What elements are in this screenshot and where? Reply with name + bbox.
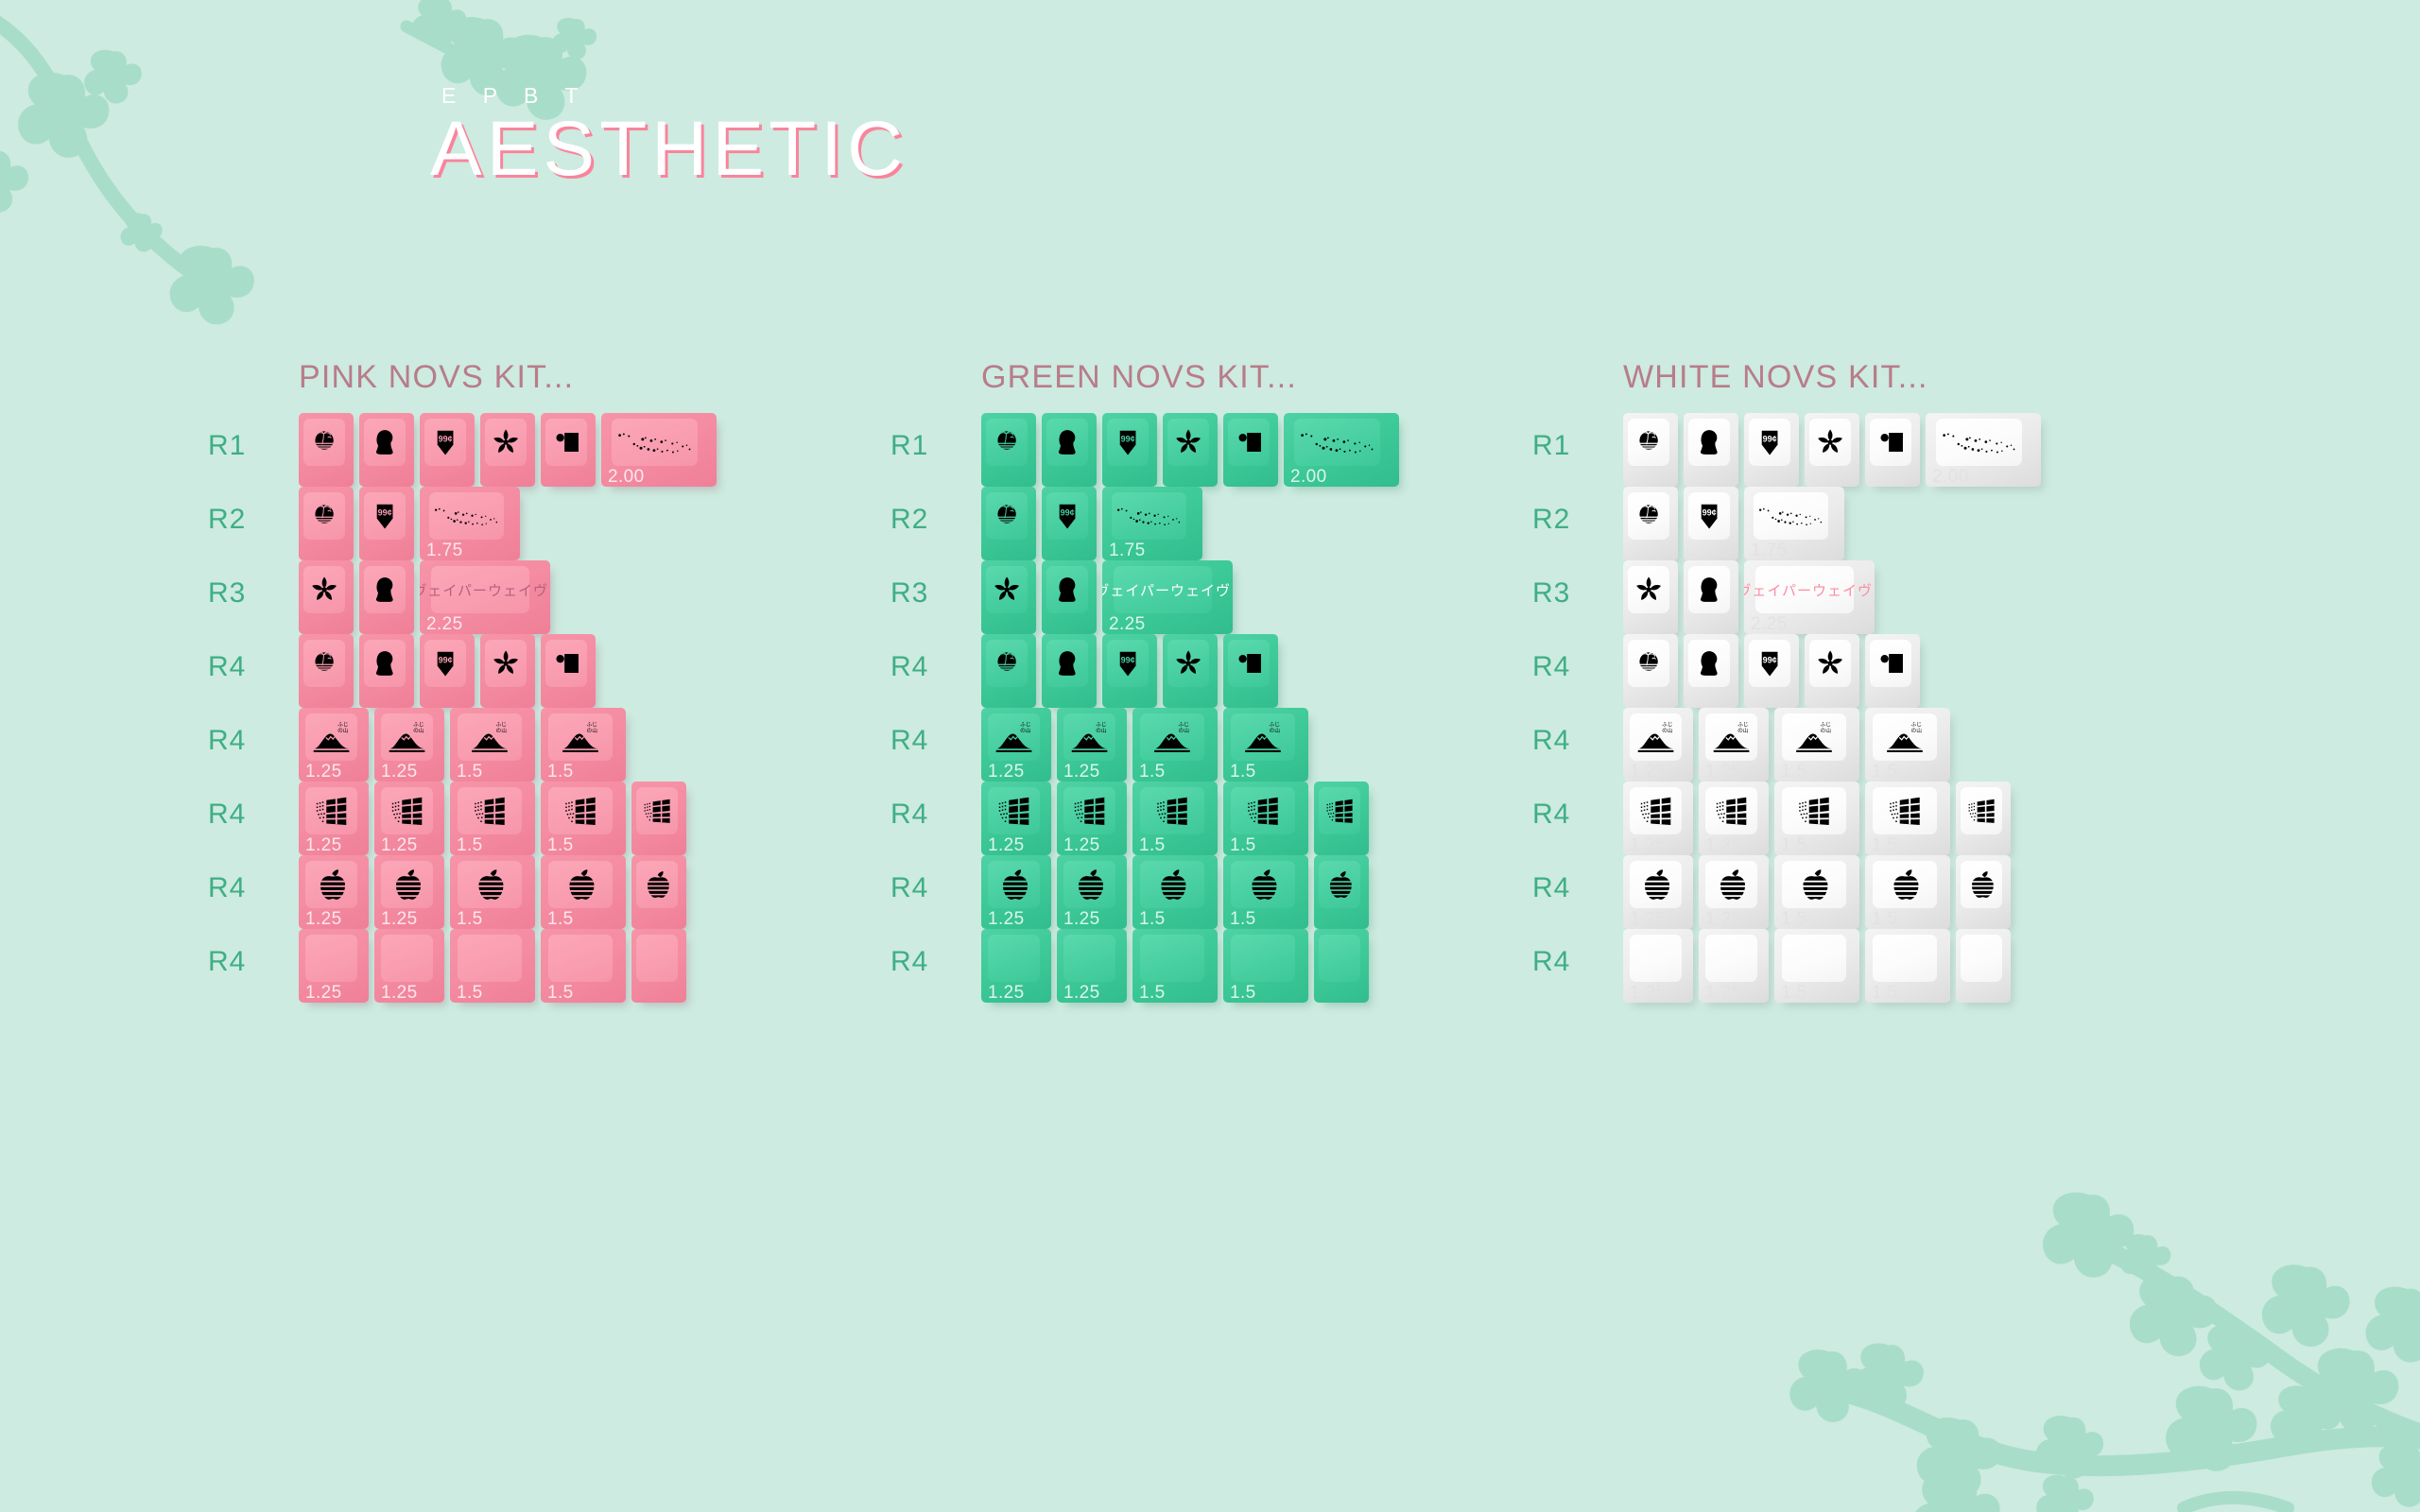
kit-white-novs: WHITE NOVS KIT...R199¢2.00R299¢1.75R3ヴェイ… <box>1623 359 1928 1003</box>
keycap[interactable]: 1.5 <box>1223 708 1308 782</box>
keycap-top-surface <box>988 787 1041 834</box>
keycap-body: 1.5 <box>1865 855 1950 929</box>
keycap-top-surface <box>1630 861 1683 908</box>
keycap[interactable] <box>981 487 1036 560</box>
keycap-row: R3ヴェイパーウェイヴ2.25 <box>1623 560 1928 634</box>
keycap[interactable] <box>1623 634 1678 708</box>
keycap[interactable]: 1.25 <box>1699 929 1769 1003</box>
keycap-body: 1.75 <box>1102 487 1202 560</box>
keycap[interactable]: 2.00 <box>1284 413 1399 487</box>
keycap-top-surface <box>1046 419 1088 466</box>
keycap-body <box>1623 487 1678 560</box>
keycap-size-label: 1.5 <box>457 836 483 854</box>
keycap[interactable] <box>480 413 535 487</box>
keycap-body: 1.25 <box>1057 855 1127 929</box>
keycap-body: 1.25 <box>374 782 444 855</box>
keycap-body: 1.25 <box>1699 855 1769 929</box>
svg-text:99¢: 99¢ <box>1762 434 1776 443</box>
keycap[interactable]: 1.5 <box>1865 929 1950 1003</box>
keycap-top-surface <box>1936 419 2023 466</box>
99cent-shield-icon: 99¢ <box>1754 425 1785 459</box>
keycap[interactable] <box>1684 634 1738 708</box>
keycap-body: 1.5 <box>1223 782 1308 855</box>
keycap-size-label: 2.25 <box>1109 615 1146 633</box>
keycap[interactable] <box>1223 413 1278 487</box>
keycap-body: 1.5 <box>1774 708 1859 782</box>
keycap[interactable]: 1.5 <box>541 782 626 855</box>
keycap[interactable]: 1.25 <box>981 782 1051 855</box>
keycap[interactable]: 1.75 <box>1102 487 1202 560</box>
windows-logo-icon <box>1149 794 1196 828</box>
keycap[interactable] <box>631 782 686 855</box>
keycap-row: R499¢ <box>299 634 574 708</box>
keycap-size-label: 1.25 <box>381 984 418 1002</box>
apple-logo-icon <box>1636 868 1675 902</box>
windows-logo-icon <box>1636 794 1675 828</box>
keycap-body <box>1956 929 2011 1003</box>
keycap-body <box>631 855 686 929</box>
keycap[interactable] <box>480 634 535 708</box>
apple-logo-icon <box>1712 868 1751 902</box>
statue-head-icon <box>1694 646 1724 680</box>
keycap[interactable]: 1.25 <box>981 708 1051 782</box>
keycap-body <box>1314 855 1369 929</box>
keycap[interactable] <box>299 413 354 487</box>
keycap[interactable] <box>541 413 596 487</box>
keycap[interactable]: 1.5 <box>1774 708 1859 782</box>
windows-logo-icon <box>1324 794 1355 828</box>
keycap-legend-text: ヴェイパーウェイヴ <box>420 580 548 600</box>
keycap[interactable] <box>1042 560 1097 634</box>
keycap[interactable]: 1.5 <box>1223 782 1308 855</box>
keycap[interactable]: 1.25 <box>981 855 1051 929</box>
row-label: R4 <box>208 872 274 904</box>
page-title: AESTHETIC <box>430 111 907 188</box>
row-label: R4 <box>208 799 274 831</box>
apple-logo-icon <box>1239 868 1287 902</box>
keycap-body: 1.5 <box>450 782 535 855</box>
keycap-top-surface <box>1873 935 1937 982</box>
statue-head-icon <box>370 573 400 607</box>
keycap[interactable] <box>1865 634 1920 708</box>
keycap[interactable] <box>1956 855 2011 929</box>
svg-text:99¢: 99¢ <box>1702 507 1716 517</box>
keycap-row: R299¢1.75 <box>981 487 1297 560</box>
keycap-top-surface <box>305 713 358 761</box>
keycap[interactable]: 1.5 <box>450 855 535 929</box>
keycap-size-label: 2.00 <box>1932 468 1969 486</box>
windows-logo-icon <box>642 794 672 828</box>
sakura-branch-icon <box>1299 427 1375 458</box>
palm-sunset-icon <box>1633 425 1664 459</box>
sakura-flower-icon <box>309 573 339 607</box>
keycap[interactable]: 1.5 <box>1865 855 1950 929</box>
keycap-size-label: 1.5 <box>1781 984 1807 1002</box>
mount-fuji-icon <box>1790 720 1838 754</box>
apple-logo-icon <box>312 868 351 902</box>
keycap-size-label: 1.25 <box>305 836 342 854</box>
keycap-body: 1.25 <box>1699 929 1769 1003</box>
keycap[interactable]: 1.25 <box>1699 855 1769 929</box>
keycap-body: 1.25 <box>981 855 1051 929</box>
keycap-top-surface <box>1782 713 1846 761</box>
keycap-size-label: 2.00 <box>1290 468 1327 486</box>
keycap-size-label: 1.5 <box>1230 910 1256 928</box>
keycap-top-surface <box>548 787 613 834</box>
keycap-row: R299¢1.75 <box>1623 487 1928 560</box>
keycap-size-label: 1.5 <box>1139 984 1166 1002</box>
keycap-body: 2.00 <box>1926 413 2041 487</box>
debian-swirl-icon <box>1239 941 1287 975</box>
debian-swirl-icon <box>1881 941 1928 975</box>
keycap[interactable] <box>541 634 596 708</box>
keycap[interactable]: 1.5 <box>1132 782 1218 855</box>
keycap-body: ヴェイパーウェイヴ2.25 <box>420 560 550 634</box>
keycap[interactable] <box>1223 634 1278 708</box>
keycap-row: R41.251.251.51.5 <box>299 929 574 1003</box>
keycap[interactable]: 1.25 <box>1623 929 1693 1003</box>
palm-sunset-icon <box>309 499 339 533</box>
keycap[interactable] <box>359 634 414 708</box>
keycap-body: 1.25 <box>374 929 444 1003</box>
keycap[interactable] <box>1684 560 1738 634</box>
keycap-body: ヴェイパーウェイヴ2.25 <box>1744 560 1875 634</box>
keycap[interactable]: 99¢ <box>420 413 475 487</box>
keycap-top-surface <box>1140 861 1204 908</box>
keycap[interactable]: 1.25 <box>299 929 369 1003</box>
row-label: R1 <box>890 430 957 462</box>
apple-logo-icon <box>994 868 1033 902</box>
keycap-top-surface <box>485 419 527 466</box>
keycap-top-surface <box>1688 566 1730 613</box>
keycap[interactable]: 99¢ <box>1042 487 1097 560</box>
windows-logo-icon <box>312 794 351 828</box>
99cent-shield-icon: 99¢ <box>430 425 460 459</box>
keycap-body <box>1865 634 1920 708</box>
debian-swirl-icon <box>557 941 604 975</box>
keycap[interactable]: 99¢ <box>1744 413 1799 487</box>
keycap[interactable] <box>981 634 1036 708</box>
keycap[interactable]: 1.5 <box>1223 929 1308 1003</box>
keycap-body: 1.5 <box>541 708 626 782</box>
keycap-top-surface <box>636 787 678 834</box>
debian-swirl-icon <box>466 941 513 975</box>
keycap-top-surface <box>1873 713 1937 761</box>
keycap[interactable] <box>1163 413 1218 487</box>
keycap-size-label: 1.25 <box>381 910 418 928</box>
keycap-top-surface: 99¢ <box>1749 640 1790 687</box>
keycap[interactable] <box>299 487 354 560</box>
keycap-top-surface <box>545 640 587 687</box>
keycap-top-surface <box>1112 492 1187 540</box>
keycap[interactable]: 99¢ <box>359 487 414 560</box>
keycap[interactable]: 99¢ <box>1744 634 1799 708</box>
keycap[interactable]: 1.25 <box>1623 782 1693 855</box>
keycap-body: 1.25 <box>981 929 1051 1003</box>
row-label: R3 <box>208 577 274 610</box>
debian-swirl-icon <box>994 941 1033 975</box>
keycap-body <box>359 560 414 634</box>
windows-logo-icon <box>557 794 604 828</box>
keycap[interactable]: 1.5 <box>541 855 626 929</box>
keycap-top-surface <box>1705 713 1758 761</box>
sakura-flower-icon <box>1173 646 1203 680</box>
keycap[interactable] <box>299 560 354 634</box>
windows-logo-icon <box>388 794 426 828</box>
keycap-size-label: 2.25 <box>1751 615 1788 633</box>
keycap-row: R41.251.251.51.5 <box>1623 708 1928 782</box>
sakura-flower-icon <box>1815 646 1845 680</box>
keycap[interactable] <box>1163 634 1218 708</box>
sakura-branch-icon <box>1757 501 1824 532</box>
keycap-size-label: 1.25 <box>988 763 1025 781</box>
keycap-top-surface <box>381 935 434 982</box>
statue-head-icon <box>370 646 400 680</box>
keycap[interactable]: 1.25 <box>1057 855 1127 929</box>
keycap[interactable]: 1.25 <box>374 708 444 782</box>
keycap[interactable]: 1.25 <box>1057 782 1127 855</box>
keycap[interactable] <box>1956 782 2011 855</box>
keycap-body: 1.5 <box>1132 782 1218 855</box>
keycap[interactable]: 1.25 <box>1699 782 1769 855</box>
keycap-body: 1.75 <box>1744 487 1844 560</box>
keycap-size-label: 1.25 <box>1630 836 1667 854</box>
keycap[interactable]: 1.25 <box>374 782 444 855</box>
keycap[interactable] <box>1623 413 1678 487</box>
keycap-top-surface: 99¢ <box>1688 492 1730 540</box>
keycap-top-surface <box>303 419 345 466</box>
keycap-body <box>1042 413 1097 487</box>
keycap[interactable] <box>1623 487 1678 560</box>
keycap-top-surface <box>364 419 406 466</box>
keycap-top-surface <box>364 640 406 687</box>
keycap-body <box>1314 782 1369 855</box>
keycap-row: R499¢ <box>981 634 1297 708</box>
keycap[interactable]: 1.5 <box>1774 782 1859 855</box>
keycap[interactable]: 1.5 <box>1865 782 1950 855</box>
keycap-top-surface <box>381 713 434 761</box>
row-label: R4 <box>1532 946 1599 978</box>
keycap[interactable]: 1.25 <box>299 782 369 855</box>
mount-fuji-icon <box>1712 720 1751 754</box>
svg-text:99¢: 99¢ <box>1120 434 1134 443</box>
keycap[interactable]: 1.5 <box>1774 855 1859 929</box>
keycap-top-surface <box>381 861 434 908</box>
keycap-top-surface <box>305 787 358 834</box>
keycap-top-surface <box>988 861 1041 908</box>
windows-logo-icon <box>994 794 1033 828</box>
mount-fuji-icon <box>1149 720 1196 754</box>
keycap-top-surface <box>1231 861 1295 908</box>
keycap-top-surface <box>364 566 406 613</box>
keycap[interactable] <box>981 413 1036 487</box>
row-label: R4 <box>1532 799 1599 831</box>
keycap[interactable]: 1.25 <box>299 855 369 929</box>
sakura-flower-icon <box>1633 573 1664 607</box>
keycap[interactable]: 1.5 <box>1132 855 1218 929</box>
keycap-body: 99¢ <box>1684 487 1738 560</box>
keycap[interactable]: 1.25 <box>374 855 444 929</box>
row-label: R2 <box>1532 504 1599 536</box>
keycap-body: 1.5 <box>450 929 535 1003</box>
keycap[interactable]: 1.25 <box>1623 855 1693 929</box>
keycap[interactable] <box>1684 413 1738 487</box>
keycap-body <box>981 634 1036 708</box>
keycap-top-surface <box>986 566 1028 613</box>
keycap[interactable]: 99¢ <box>1102 634 1157 708</box>
vaporwave-art-icon <box>551 646 581 680</box>
99cent-shield-icon: 99¢ <box>1754 646 1785 680</box>
kit-title: PINK NOVS KIT... <box>299 359 574 396</box>
keycap-row: R41.251.251.51.5 <box>299 855 574 929</box>
keycap-body: 1.25 <box>299 855 369 929</box>
keycap[interactable]: 99¢ <box>1102 413 1157 487</box>
keycap[interactable]: 1.5 <box>450 782 535 855</box>
keycap-body <box>1956 855 2011 929</box>
svg-text:99¢: 99¢ <box>438 655 452 664</box>
keycap[interactable] <box>1805 413 1859 487</box>
keycap[interactable]: 1.5 <box>450 929 535 1003</box>
keycap[interactable]: 1.5 <box>1774 929 1859 1003</box>
keycap[interactable]: 1.25 <box>1057 708 1127 782</box>
debian-swirl-icon <box>388 941 426 975</box>
row-label: R4 <box>1532 725 1599 757</box>
keycap-body: 1.5 <box>1865 929 1950 1003</box>
svg-text:99¢: 99¢ <box>438 434 452 443</box>
keycap[interactable]: 1.25 <box>981 929 1051 1003</box>
keycap-top-surface <box>1140 787 1204 834</box>
windows-logo-icon <box>466 794 513 828</box>
keycap[interactable]: 1.5 <box>1865 708 1950 782</box>
row-label: R4 <box>1532 872 1599 904</box>
keycap-top-surface <box>1167 419 1209 466</box>
keycap-top-surface <box>303 640 345 687</box>
keycap[interactable]: 1.25 <box>1699 708 1769 782</box>
keycap[interactable]: ヴェイパーウェイヴ2.25 <box>420 560 550 634</box>
keycap-body <box>1223 634 1278 708</box>
keycap-top-surface <box>1961 861 2002 908</box>
keycap[interactable] <box>1805 634 1859 708</box>
keycap[interactable] <box>299 634 354 708</box>
apple-logo-icon <box>1149 868 1196 902</box>
keycap-body: 1.5 <box>1865 782 1950 855</box>
keycap[interactable] <box>1623 560 1678 634</box>
keycap[interactable]: 1.75 <box>420 487 520 560</box>
keycap-size-label: 1.25 <box>1630 910 1667 928</box>
windows-logo-icon <box>1239 794 1287 828</box>
keycap-top-surface <box>1688 419 1730 466</box>
keycap-body: 1.25 <box>1057 708 1127 782</box>
keycap-top-surface <box>986 419 1028 466</box>
keycap[interactable]: 1.5 <box>541 929 626 1003</box>
keycap[interactable] <box>1042 413 1097 487</box>
keycap-top-surface <box>986 492 1028 540</box>
keycap[interactable]: 1.75 <box>1744 487 1844 560</box>
mount-fuji-icon <box>994 720 1033 754</box>
keycap[interactable]: 1.5 <box>541 708 626 782</box>
keycap-body: 1.5 <box>1132 929 1218 1003</box>
kit-title: GREEN NOVS KIT... <box>981 359 1297 396</box>
keycap[interactable]: 2.00 <box>601 413 717 487</box>
keycap[interactable] <box>359 413 414 487</box>
kit-pink-novs: PINK NOVS KIT...R199¢2.00R299¢1.75R3ヴェイパ… <box>299 359 574 1003</box>
keycap-body: 1.5 <box>1132 708 1218 782</box>
keycap-body: 1.75 <box>420 487 520 560</box>
keycap[interactable] <box>1314 929 1369 1003</box>
keycap-size-label: 1.25 <box>305 763 342 781</box>
mount-fuji-icon <box>557 720 604 754</box>
keycap[interactable]: 1.5 <box>1223 855 1308 929</box>
keycap[interactable]: 1.25 <box>374 929 444 1003</box>
mount-fuji-icon <box>466 720 513 754</box>
keycap[interactable]: 1.5 <box>1132 708 1218 782</box>
apple-logo-icon <box>557 868 604 902</box>
keycap-rows: R199¢2.00R299¢1.75R3ヴェイパーウェイヴ2.25R499¢R4… <box>299 413 574 1003</box>
keycap-top-surface <box>485 640 527 687</box>
keycap-top-surface <box>1046 566 1088 613</box>
keycap[interactable]: ヴェイパーウェイヴ2.25 <box>1744 560 1875 634</box>
keycap[interactable]: 1.5 <box>450 708 535 782</box>
palm-sunset-icon <box>309 425 339 459</box>
keycap[interactable] <box>981 560 1036 634</box>
keycap-size-label: 1.25 <box>1705 836 1742 854</box>
keycap[interactable] <box>1865 413 1920 487</box>
keycap[interactable]: 1.25 <box>1057 929 1127 1003</box>
keycap[interactable]: 2.00 <box>1926 413 2041 487</box>
apple-logo-icon <box>642 868 672 902</box>
keycap-size-label: 1.5 <box>1139 910 1166 928</box>
keycap-size-label: 1.5 <box>1230 984 1256 1002</box>
keycap-row: R41.251.251.51.5 <box>299 782 574 855</box>
keycap-size-label: 1.25 <box>1705 910 1742 928</box>
statue-head-icon <box>1694 573 1724 607</box>
keycap[interactable]: 1.25 <box>299 708 369 782</box>
palm-sunset-icon <box>992 499 1022 533</box>
keycap-body: 1.25 <box>1057 782 1127 855</box>
99cent-shield-icon: 99¢ <box>1052 499 1082 533</box>
keycap-body: 1.5 <box>1132 855 1218 929</box>
keycap[interactable]: 99¢ <box>420 634 475 708</box>
keycap-body: 1.25 <box>1623 708 1693 782</box>
keycap[interactable]: 1.5 <box>1132 929 1218 1003</box>
keycap[interactable] <box>1956 929 2011 1003</box>
keycap-size-label: 1.75 <box>1109 541 1146 559</box>
keycap-body: 2.00 <box>601 413 717 487</box>
keycap[interactable] <box>1042 634 1097 708</box>
keycap-top-surface <box>303 566 345 613</box>
keycap-size-label: 1.25 <box>381 763 418 781</box>
keycap[interactable] <box>1314 855 1369 929</box>
keycap-body: 99¢ <box>420 413 475 487</box>
keycap-body <box>981 560 1036 634</box>
keycap-body <box>631 929 686 1003</box>
sakura-flower-icon <box>491 646 521 680</box>
keycap[interactable] <box>631 855 686 929</box>
keycap-body <box>1042 634 1097 708</box>
keycap[interactable]: 1.25 <box>1623 708 1693 782</box>
keycap[interactable]: ヴェイパーウェイヴ2.25 <box>1102 560 1233 634</box>
keycap[interactable] <box>1314 782 1369 855</box>
row-label: R1 <box>208 430 274 462</box>
keycap-body: 99¢ <box>420 634 475 708</box>
keycap[interactable] <box>631 929 686 1003</box>
keycap[interactable]: 99¢ <box>1684 487 1738 560</box>
keycap[interactable] <box>359 560 414 634</box>
keycap-top-surface <box>1705 861 1758 908</box>
keycap-top-surface: 99¢ <box>424 640 466 687</box>
keycap-top-surface <box>1167 640 1209 687</box>
keycap-top-surface <box>1873 787 1937 834</box>
